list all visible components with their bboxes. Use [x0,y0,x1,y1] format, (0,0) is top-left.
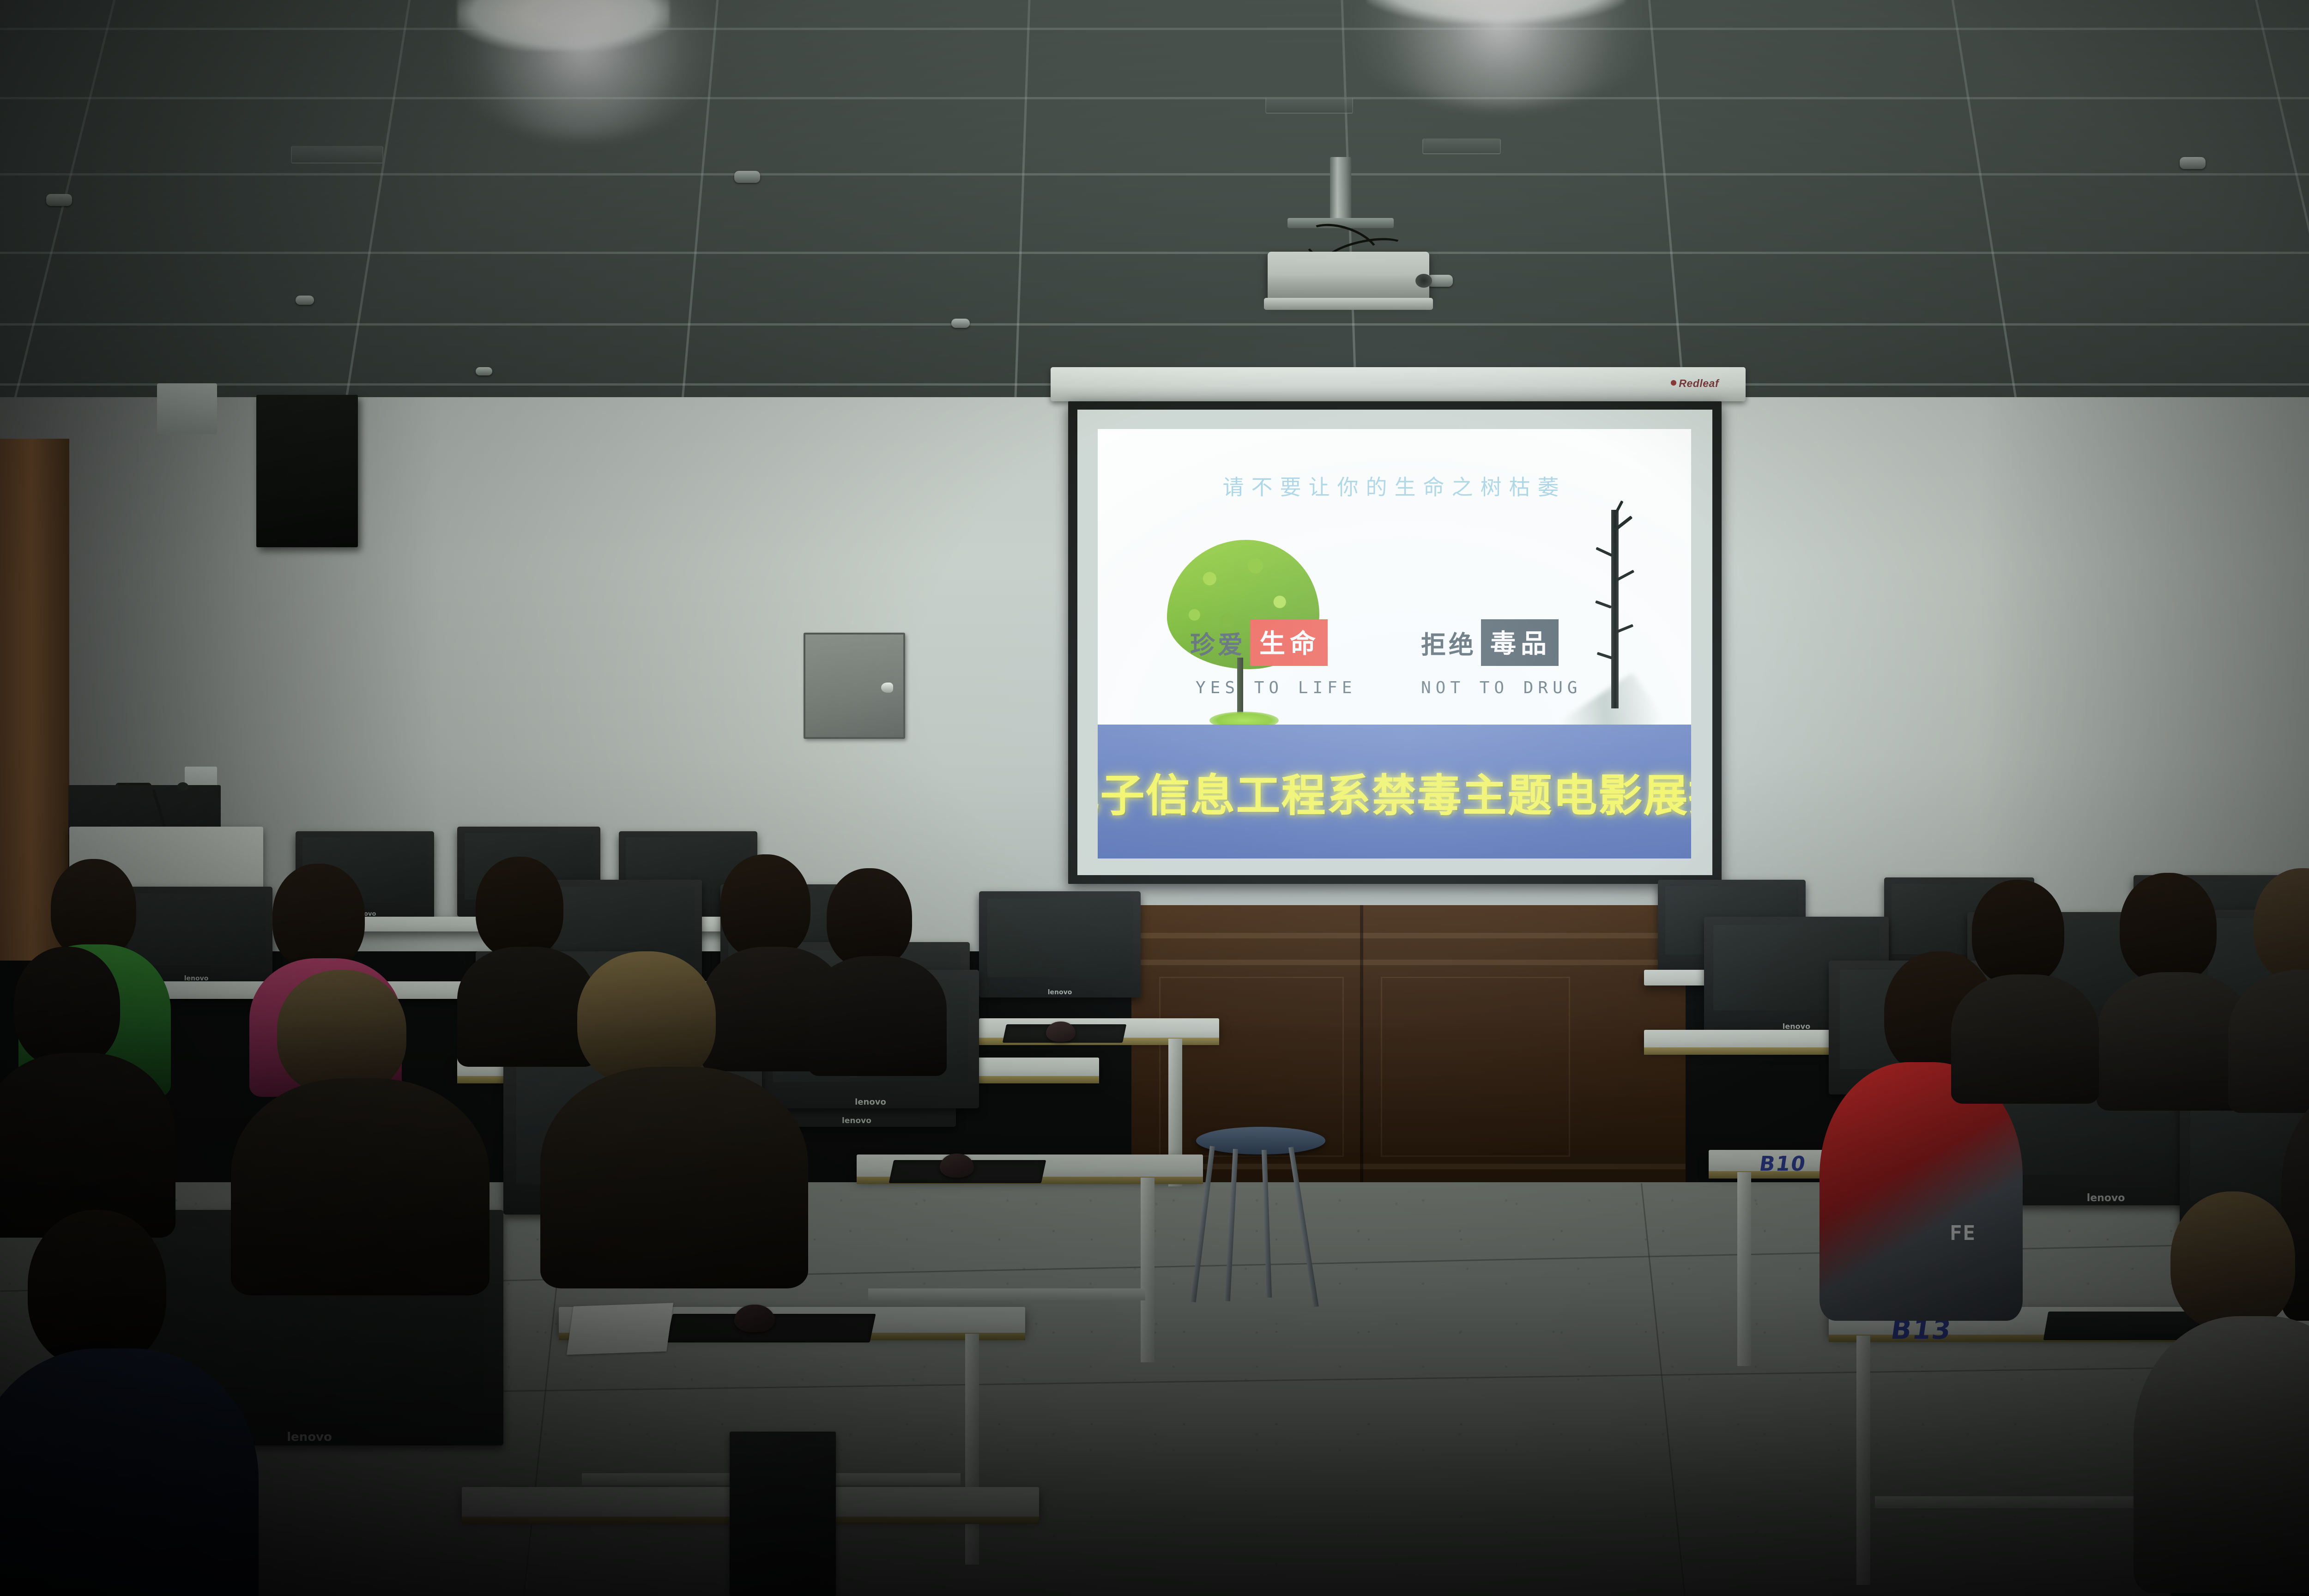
student-head [28,1210,166,1367]
paper-sheet-left[interactable] [567,1303,673,1354]
student-torso [2134,1316,2309,1593]
wall-speaker [256,395,358,547]
slide-banner-title: 电子信息工程系禁毒主题电影展播 [1098,760,1691,824]
blue-stool[interactable] [1196,1127,1325,1302]
ceiling-light-left [457,0,670,51]
projector-mount-pole [1330,157,1351,222]
smoke-detector-left [46,194,72,206]
student-torso [808,956,947,1076]
student-head [1972,880,2064,985]
ceiling-vent-center [1265,97,1353,114]
brand-dot-icon [1671,380,1676,386]
sprinkler-head [296,296,314,305]
mouse-fore-l[interactable] [940,1154,974,1178]
student-torso [457,947,596,1067]
student-head [2170,1191,2295,1330]
student-torso [0,1348,259,1596]
slogan-drug-english: NOT TO DRUG [1421,678,1582,697]
student-torso [1951,974,2099,1104]
slogan-life-prefix: 珍爱 [1190,624,1245,661]
student-head [577,951,716,1085]
student-head [272,864,365,970]
jacket-print-fe: FE [1950,1221,1976,1245]
desk-leg-fore-l [1141,1178,1154,1362]
student-head [277,970,406,1094]
pc-tower-left[interactable] [730,1432,836,1596]
slogan-row: 珍爱 生命 拒绝 毒品 YES TO LIFE NOT TO DRUG [1098,614,1691,711]
slogan-life: 珍爱 生命 [1190,619,1328,666]
student-head [2120,873,2217,984]
desk-leg-r-b13 [1856,1336,1870,1585]
monitor-mlc2: lenovo [979,891,1141,997]
smoke-detector-mid [734,171,760,183]
ceiling-projector [1268,252,1429,302]
student-head [476,857,563,958]
student-torso [540,1067,808,1288]
wainscot-panel-right [1381,977,1570,1157]
speaker-bracket [157,383,217,434]
screen-housing: Redleaf [1051,367,1746,401]
sprinkler-head-3 [476,367,492,375]
ceiling-tile-grid [0,0,2309,406]
desk-label-b10: B10 [1758,1152,1807,1176]
smoke-detector-right [2180,157,2206,169]
slogan-drug: 拒绝 毒品 [1421,619,1559,666]
student-torso [231,1078,490,1295]
slide-title-banner: 电子信息工程系禁毒主题电影展播 [1098,725,1691,858]
slogan-drug-boxed: 毒品 [1481,619,1559,666]
slide-upper-area: 请不要让你的生命之树枯萎 [1098,429,1691,725]
classroom-photo: Redleaf 请不要让你的生命之树枯萎 [0,0,2309,1596]
slide-header-line: 请不要让你的生命之树枯萎 [1098,471,1691,501]
wall-utility-panel[interactable] [804,633,905,739]
screen-brand-label: Redleaf [1679,377,1719,390]
wall-shadow-right [1978,397,2309,951]
projected-slide: 请不要让你的生命之树枯萎 [1098,429,1691,858]
ceiling-vent-left [291,146,383,163]
screen-surface: 请不要让你的生命之树枯萎 [1077,410,1712,875]
student-head [720,854,810,958]
suspended-ceiling [0,0,2309,406]
desk-leg-r-b10 [1737,1172,1751,1366]
projector-lens [1415,274,1432,288]
student-head [51,859,136,958]
slogan-drug-prefix: 拒绝 [1421,624,1476,661]
projection-screen: Redleaf 请不要让你的生命之树枯萎 [1051,367,1746,887]
desk-rail-fore-l [868,1288,1145,1300]
ceiling-vent-right [1422,139,1501,154]
ceiling-light-right [1367,0,1626,23]
mouse-fore-l2[interactable] [734,1305,775,1332]
microphone-head-icon [177,782,188,791]
projector-base [1264,298,1433,310]
slogan-life-boxed: 生命 [1250,619,1328,666]
student-head [827,868,912,967]
mouse-mlc[interactable] [1046,1022,1076,1042]
panel-latch-icon[interactable] [881,683,893,693]
desk-leg-fore-l2 [965,1334,979,1565]
student-head [14,947,120,1067]
slogan-life-english: YES TO LIFE [1196,678,1356,697]
stool-seat [1196,1127,1325,1155]
sprinkler-head-2 [951,319,970,328]
